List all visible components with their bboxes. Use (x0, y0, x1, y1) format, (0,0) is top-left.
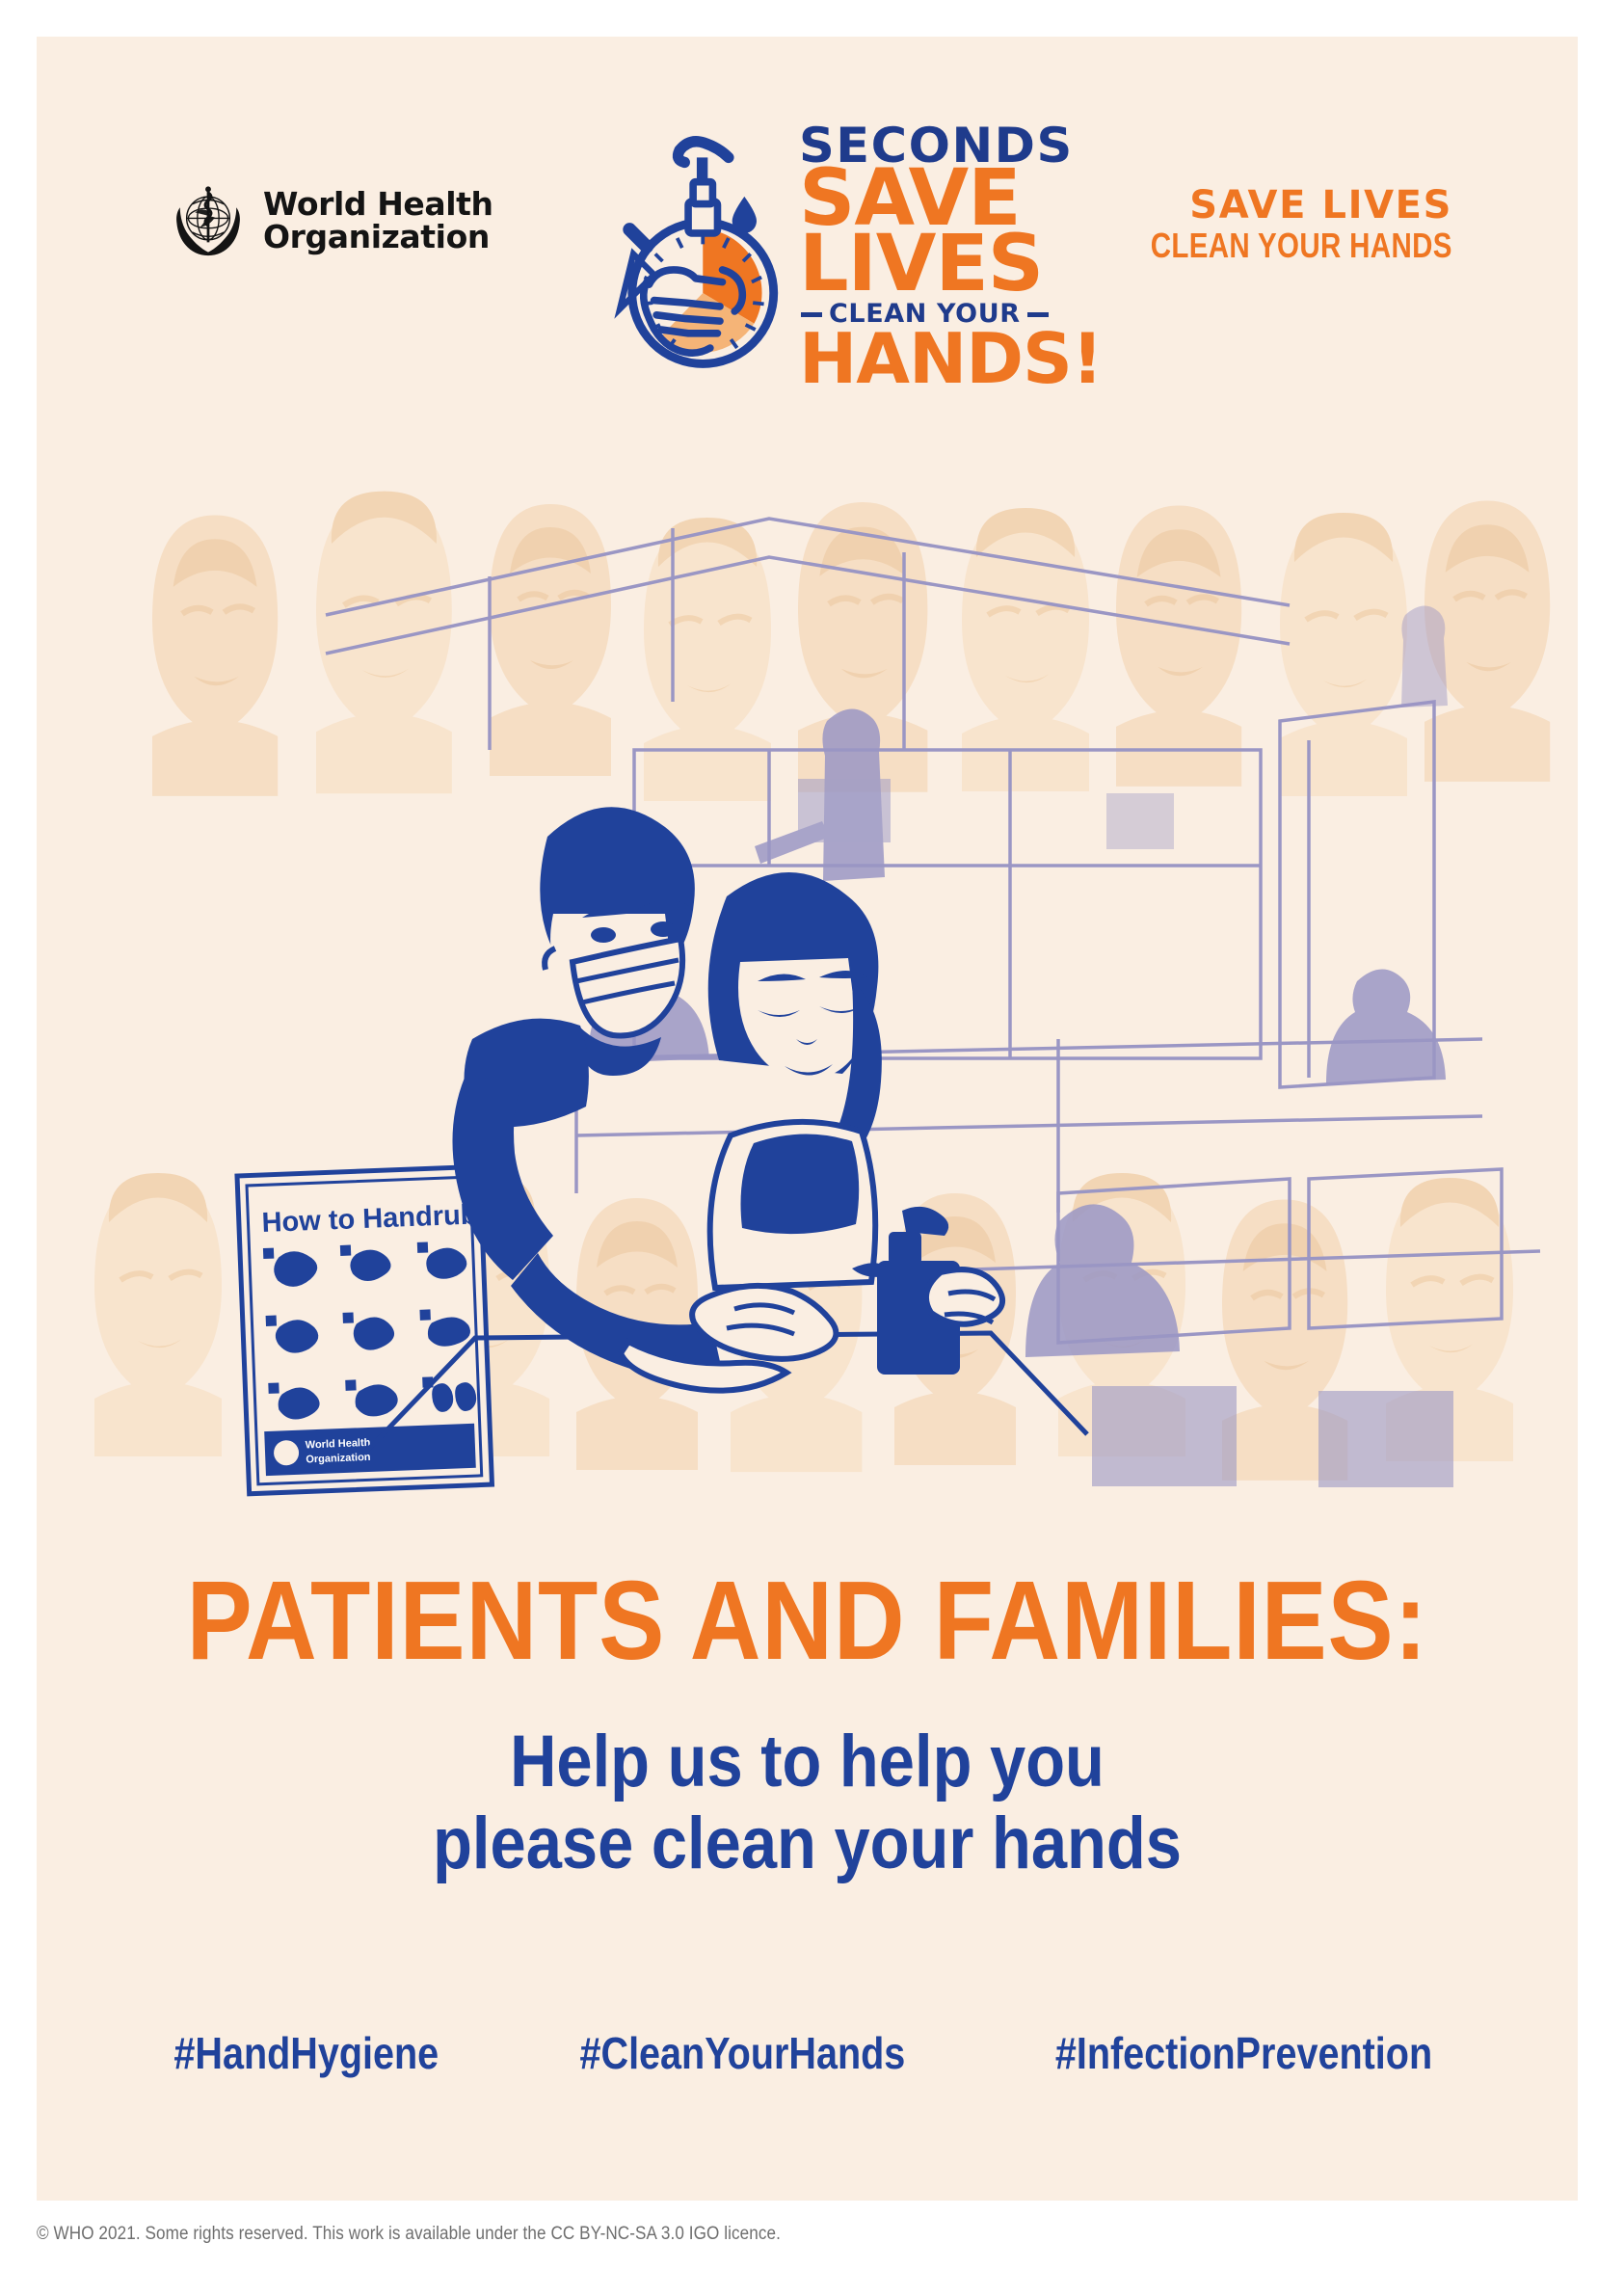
who-wordmark-line1: World Health (263, 188, 493, 221)
headline-sub-line2: please clean your hands (129, 1802, 1485, 1884)
poster-canvas: World Health Organization (37, 37, 1578, 2201)
lockup-line-hands: HANDS! (799, 330, 1103, 387)
handrub-steps (263, 1241, 477, 1421)
copyright-footer: © WHO 2021. Some rights reserved. This w… (37, 2224, 1386, 2245)
rule-right (1027, 312, 1049, 317)
tagline-line2: CLEAN YOUR HANDS (1151, 228, 1452, 263)
rule-left (801, 312, 822, 317)
campaign-tagline: SAVE LIVES CLEAN YOUR HANDS (1084, 186, 1452, 263)
lockup-line-lives: LIVES (799, 231, 1043, 297)
campaign-lockup: SECONDS SAVE LIVES CLEAN YOUR HANDS! (610, 112, 1053, 401)
how-to-handrub-wall-poster: How to Handrub? (237, 1166, 495, 1493)
tagline-line1: SAVE LIVES (1084, 186, 1452, 225)
lockup-line-seconds: SECONDS (799, 125, 1074, 166)
who-emblem-icon (167, 179, 250, 262)
headline-subtitle: Help us to help you please clean your ha… (37, 1721, 1578, 1884)
who-wordmark: World Health Organization (263, 188, 493, 253)
hashtag-hand-hygiene[interactable]: #HandHygiene (173, 2027, 439, 2079)
illustration: How to Handrub? (37, 461, 1578, 1540)
campaign-lockup-type: SECONDS SAVE LIVES CLEAN YOUR HANDS! (799, 125, 1103, 387)
headline-block: PATIENTS AND FAMILIES: Help us to help y… (37, 1564, 1578, 1884)
lockup-hands-text: HANDS! (799, 330, 1103, 387)
who-logo: World Health Organization (167, 179, 493, 262)
hashtag-infection-prevention[interactable]: #InfectionPrevention (1055, 2027, 1432, 2079)
foreground-figures (452, 807, 1002, 1390)
who-wordmark-line2: Organization (263, 221, 493, 254)
headline-sub-line1: Help us to help you (129, 1721, 1485, 1802)
illustration-artwork: How to Handrub? (37, 461, 1578, 1540)
stopwatch-sanitizer-handrub-icon (610, 126, 793, 387)
hashtag-clean-your-hands[interactable]: #CleanYourHands (579, 2027, 905, 2079)
page-title: PATIENTS AND FAMILIES: (129, 1564, 1485, 1676)
hashtag-row: #HandHygiene #CleanYourHands #InfectionP… (152, 2027, 1463, 2079)
poster-header: World Health Organization (37, 37, 1578, 461)
copyright-text: © WHO 2021. Some rights reserved. This w… (37, 2224, 781, 2245)
